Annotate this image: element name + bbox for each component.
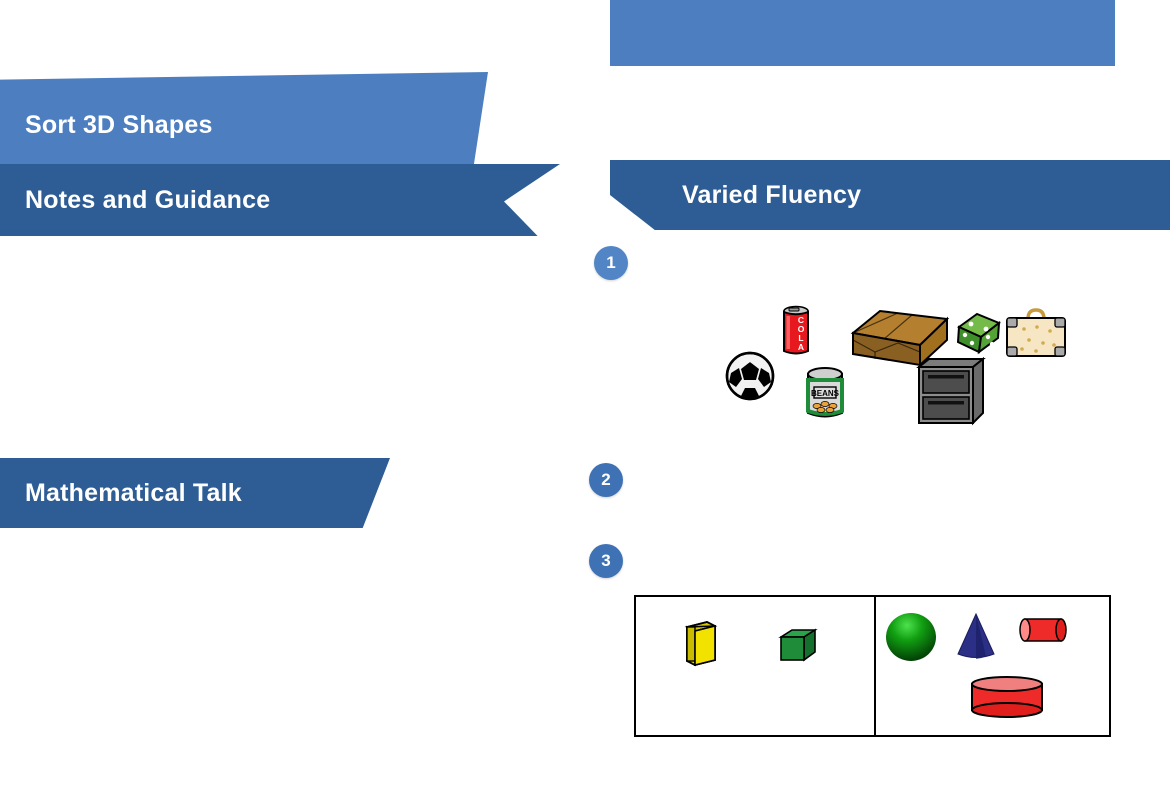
slide-canvas: Sort 3D Shapes Notes and Guidance Mathem… (0, 0, 1170, 810)
varied-fluency-banner: Varied Fluency (610, 160, 1170, 230)
question-number-2: 2 (589, 463, 623, 497)
mathematical-talk-heading: Mathematical Talk (25, 479, 242, 508)
filing-cabinet-icon (915, 355, 987, 427)
page-title: Sort 3D Shapes (25, 111, 213, 140)
green-cube-shape (778, 627, 818, 663)
notes-heading: Notes and Guidance (25, 186, 270, 215)
title-banner: Sort 3D Shapes (0, 72, 488, 168)
question-number-1: 1 (594, 246, 628, 280)
beans-can-icon: BEANS (803, 365, 847, 421)
sorting-table-cell-left[interactable] (636, 597, 876, 735)
sorting-table[interactable] (634, 595, 1111, 737)
varied-fluency-heading: Varied Fluency (682, 181, 861, 210)
question-1-objects: C O L A BEANS (715, 295, 1075, 440)
blue-cone-shape (954, 611, 998, 661)
question-number-3: 3 (589, 544, 623, 578)
top-accent-bar (610, 0, 1115, 66)
svg-text:A: A (798, 342, 804, 352)
cola-can-icon: C O L A (777, 303, 815, 357)
green-sphere-shape (884, 611, 940, 663)
football-icon (723, 351, 777, 401)
dice-icon (955, 311, 1003, 355)
yellow-cuboid-shape (684, 619, 718, 667)
red-cylinder-large-shape (968, 675, 1046, 719)
suitcase-icon (1003, 307, 1069, 359)
mathematical-talk-banner: Mathematical Talk (0, 458, 390, 528)
svg-text:BEANS: BEANS (811, 389, 840, 398)
sorting-table-cell-right[interactable] (876, 597, 1109, 735)
notes-banner: Notes and Guidance (0, 164, 560, 236)
red-cylinder-small-shape (1018, 615, 1068, 645)
